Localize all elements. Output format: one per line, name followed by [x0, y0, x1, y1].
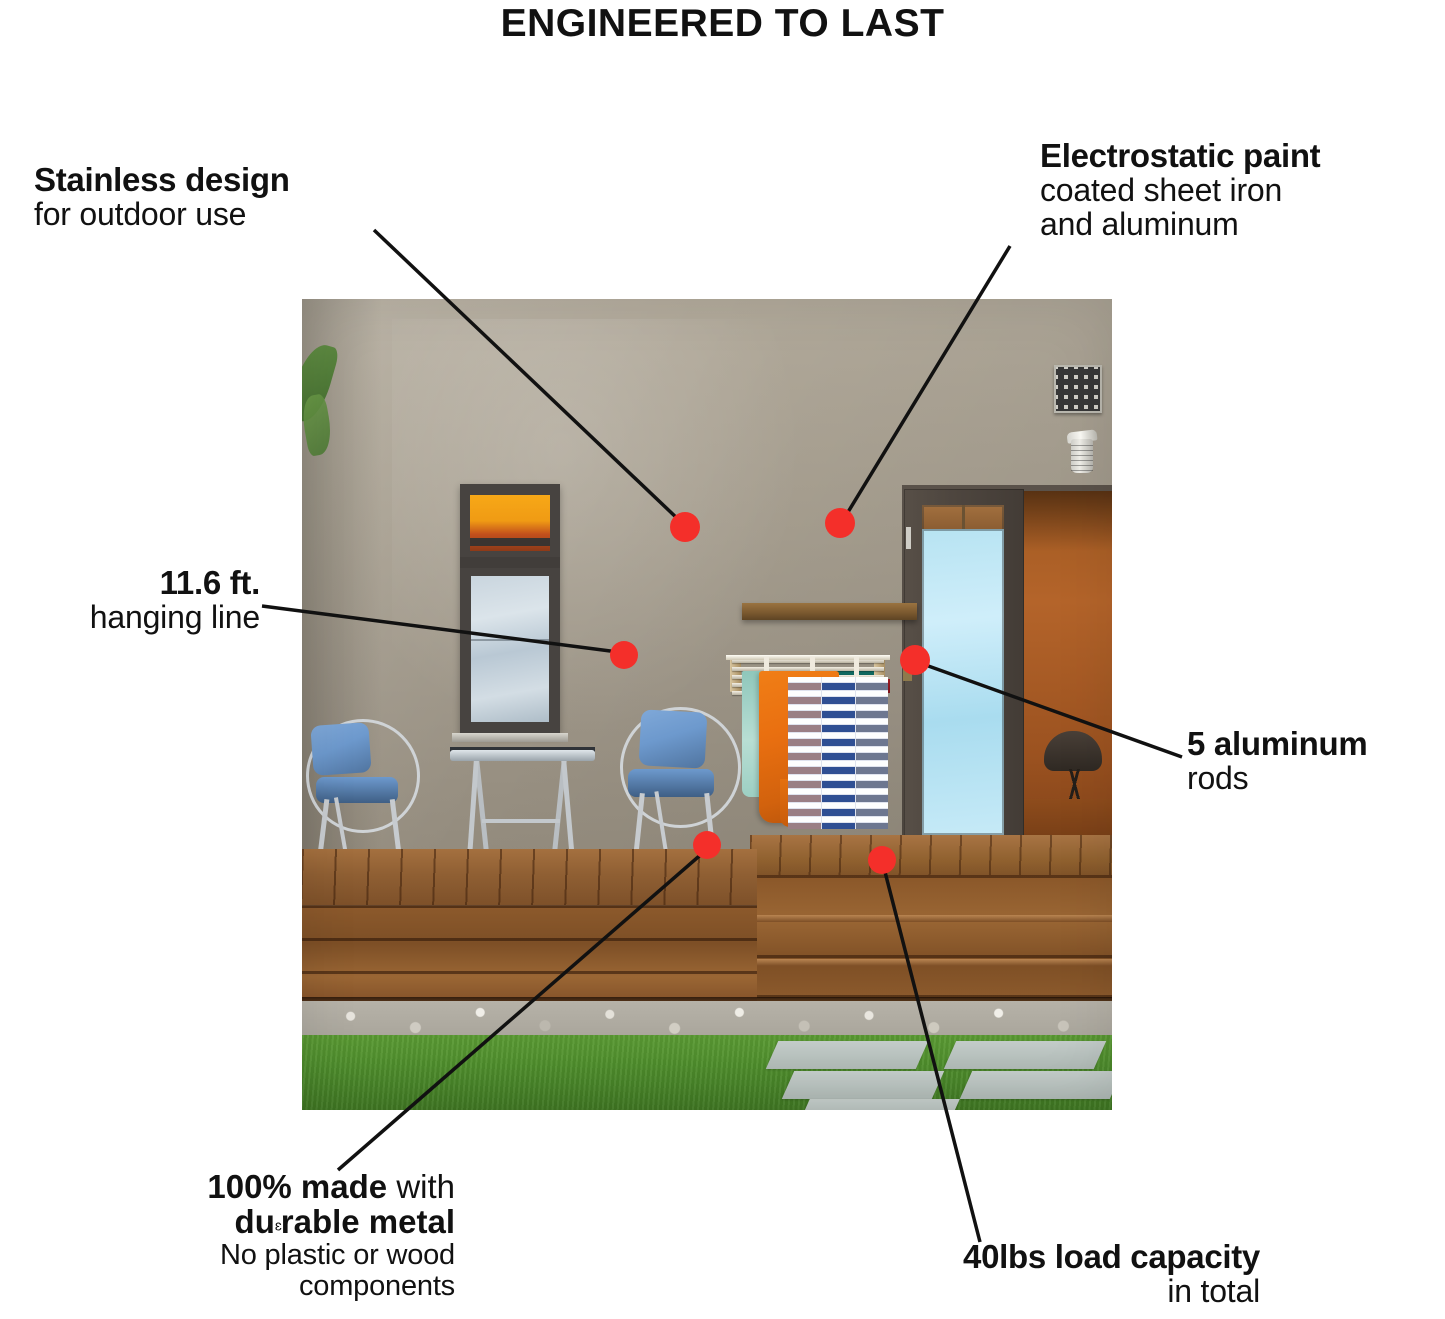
- callout-bold-du: du: [235, 1203, 275, 1240]
- callout-subtext-line1: No plastic or wood: [50, 1240, 455, 1271]
- callout-headline: 40lbs load capacity: [760, 1240, 1260, 1275]
- infographic-page: ENGINEERED TO LAST: [0, 0, 1445, 1319]
- callout-headline-line1: 100% made with: [50, 1170, 455, 1205]
- callout-electrostatic-paint: Electrostatic paint coated sheet iron an…: [1040, 139, 1320, 242]
- callout-bold-100-made: 100% made: [207, 1168, 387, 1205]
- callout-subtext-line2: and aluminum: [1040, 208, 1320, 242]
- callout-durable-metal: 100% made with duɛrable metal No plastic…: [50, 1170, 455, 1301]
- callout-subtext: in total: [760, 1275, 1260, 1309]
- callout-bold-rable-metal: rable metal: [281, 1203, 455, 1240]
- callout-hanging-line: 11.6 ft. hanging line: [0, 566, 260, 635]
- callout-regular-with: with: [396, 1168, 455, 1205]
- callout-subtext: rods: [1187, 762, 1367, 796]
- photo-vignette: [302, 299, 1112, 1110]
- callout-subtext: for outdoor use: [34, 198, 290, 232]
- callout-headline: 11.6 ft.: [0, 566, 260, 601]
- callout-subtext: hanging line: [0, 601, 260, 635]
- callout-load-capacity: 40lbs load capacity in total: [760, 1240, 1260, 1309]
- callout-headline-line2: duɛrable metal: [50, 1205, 455, 1240]
- callout-subtext-line2: components: [50, 1271, 455, 1302]
- callout-headline: Electrostatic paint: [1040, 139, 1320, 174]
- product-photo: [302, 299, 1112, 1110]
- callout-aluminum-rods: 5 aluminum rods: [1187, 727, 1367, 796]
- callout-subtext-line1: coated sheet iron: [1040, 174, 1320, 208]
- callout-headline: 5 aluminum: [1187, 727, 1367, 762]
- callout-stainless-design: Stainless design for outdoor use: [34, 163, 290, 232]
- page-title: ENGINEERED TO LAST: [0, 0, 1445, 48]
- callout-headline: Stainless design: [34, 163, 290, 198]
